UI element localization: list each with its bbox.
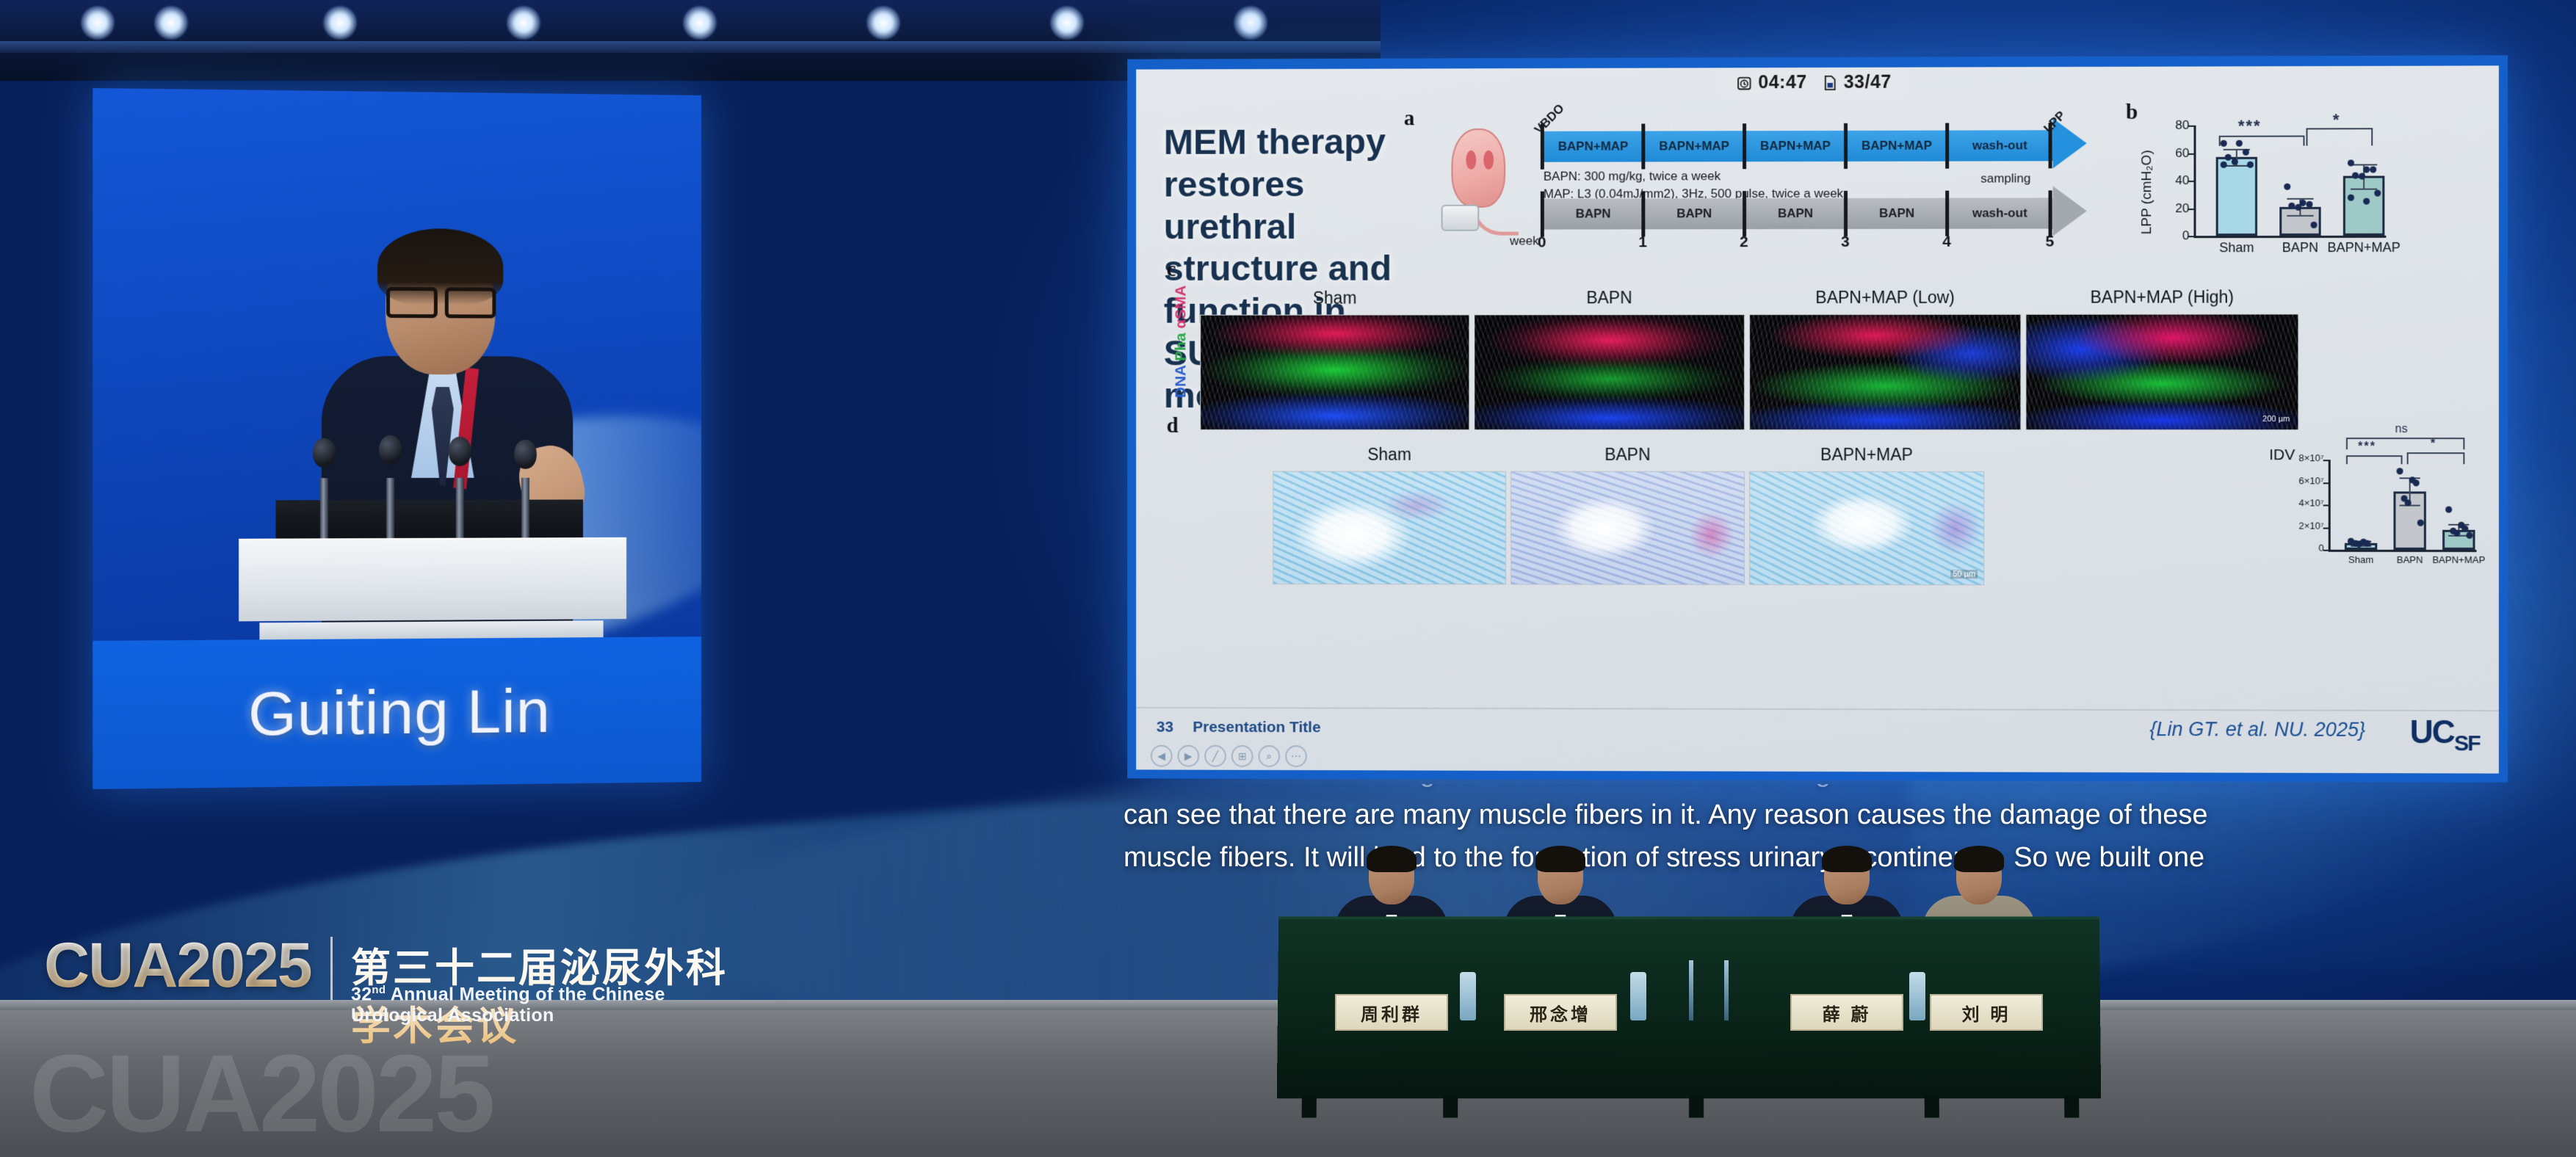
week-axis-label: week [1510,234,1538,249]
chart-y-tick-label: 20 [2138,201,2189,216]
timeline-tick [1945,191,1949,236]
channel-label-pha: Pha [1173,333,1190,361]
histology-image-sham [1273,471,1506,585]
stage-light-icon [866,6,900,40]
chart-errorbar-cap [2351,164,2377,165]
panelist-hair [1535,846,1585,872]
timeline-tick [1641,191,1645,236]
stage-light-icon [81,6,115,40]
timeline-segment: BAPN [1644,198,1744,229]
stage-light-icon [507,6,540,40]
timer-value: 04:47 [1758,72,1806,93]
chart-y-tick-label: 2×10⁷ [2272,520,2324,531]
microphone-icon [514,440,537,469]
significance-star: * [2333,110,2341,129]
timeline-tick [1743,123,1746,169]
channel-label-asma: αSMA [1173,285,1190,328]
chart-data-point [2246,161,2253,167]
ucsf-logo-main: UC [2410,714,2454,750]
chart-y-tick-label: 4×10⁷ [2272,497,2324,508]
chart-y-tick-label: 8×10⁷ [2272,452,2324,463]
microphone-stalk [320,478,328,545]
presentation-timer: 04:47 [1736,72,1806,93]
timeline-segment: BAPN+MAP [1847,131,1947,162]
water-bottle [1630,972,1646,1020]
chart-bars: ShamBAPNBAPN+MAP [2126,103,2436,104]
micrograph-column: BAPN+MAP (Low) [1749,283,2021,401]
chart-y-tick [2188,236,2195,237]
stage-light-icon [323,6,357,40]
panelist-nameplate: 邢念增 [1504,994,1617,1031]
table-leg [1443,1095,1458,1117]
water-bottle [1460,972,1476,1020]
footer-citation: {Lin GT. et al. NU. 2025} [2149,718,2365,741]
timeline-segment: BAPN [1544,198,1643,229]
chart-data-point [2370,166,2376,173]
timeline-tick [1945,123,1949,169]
micrograph-label: BAPN [1474,288,1745,308]
significance-star: *** [2238,117,2262,136]
chart-data-point [2232,159,2238,165]
conference-title-en-text: Annual Meeting of the Chinese Urological… [351,984,665,1026]
panelist-hair [1367,846,1417,872]
conference-ordinal: 32 [351,984,372,1004]
slide-counter: 33/47 [1823,72,1892,93]
microphone-stalk [456,478,464,545]
podium-front-panel [239,537,626,621]
scale-bar-label: 50 µm [1950,570,1978,578]
significance-bracket [2346,455,2403,464]
stage-light-icon [1050,6,1084,40]
speaker-name-banner: Guiting Lin [93,636,701,789]
chart-data-point [2295,203,2301,210]
chart-category-label: BAPN+MAP [2428,554,2489,565]
pump-device-icon [1441,205,1480,231]
panel-letter-a: a [1404,106,1414,131]
glasses-icon [386,287,496,313]
timeline-segment: BAPN+MAP [1644,131,1744,162]
conference-branding: CUA2025 第三十二届泌尿外科学术会议 32nd Annual Meetin… [44,924,734,1018]
timeline-tick [1844,123,1848,169]
significance-bracket [2407,452,2465,464]
zoom-button[interactable]: ⌕ [1258,745,1280,767]
chart-y-tick-label: 40 [2138,173,2189,188]
panel-d-idv-chart: IDV 02×10⁷4×10⁷6×10⁷8×10⁷ ShamBAPNBAPN+M… [2265,426,2487,570]
truss-bar [0,41,1381,53]
chart-ylabel: LPP (cmH₂O) [2139,150,2155,234]
slide-counter-value: 33/47 [1844,72,1892,93]
panelist-hair [1954,846,2004,872]
channel-label-dna: DNA [1173,366,1190,399]
table-leg [2064,1095,2079,1117]
chart-y-tick-label: 0 [2272,543,2324,554]
chart-data-point [2396,468,2403,475]
pen-tool-button[interactable]: ╱ [1204,745,1226,767]
week-tick: 0 [1538,234,1546,252]
chart-data-point [2348,194,2354,200]
chart-x-axis [2329,550,2477,552]
chart-y-tick-label: 0 [2138,228,2189,243]
chart-y-tick [2323,482,2330,484]
panel-b-lpp-chart: LPP (cmH₂O) 020406080 ShamBAPNBAPN+MAP *… [2126,103,2436,251]
micrograph-column: Sham [1200,284,1469,402]
cua-logo: CUA2025 [44,929,311,1002]
chart-data-point [2363,166,2370,173]
panel-d-histology: Sham BAPN BAPN+MAP 50 µm IDV 02×10⁷4×10⁷… [1165,410,2487,572]
next-slide-button[interactable]: ▶ [1178,745,1200,767]
significance-ns: ns [2395,423,2408,436]
week-tick: 5 [2046,233,2055,251]
chart-y-tick-label: 80 [2138,118,2189,133]
microphone-icon [313,438,336,468]
rat-eye [1466,150,1476,170]
table-leg [1925,1095,1939,1117]
stage-light-icon [1234,6,1267,40]
timeline-segment: BAPN [1847,198,1947,229]
chart-data-point [2221,161,2227,167]
timeline-segment: BAPN+MAP [1745,131,1845,162]
microphone-icon [449,437,471,466]
speaker-projection-screen: Guiting Lin [93,88,701,789]
presentation-slide: 04:47 33/47 MEM therapy restores urethra… [1136,65,2499,773]
chart-data-point [2310,222,2317,228]
histology-label: BAPN [1510,445,1745,465]
histology-label: Sham [1273,445,1506,465]
week-tick: 1 [1638,233,1647,251]
timeline-segment: BAPN+MAP [1544,131,1643,162]
rat-body [1451,128,1505,208]
footer-slide-number: 33 [1157,719,1173,736]
week-tick: 3 [1841,233,1850,251]
table-microphone-icon [1724,960,1729,1020]
previous-slide-button[interactable]: ◀ [1151,745,1173,767]
table-microphone-icon [1689,960,1693,1020]
significance-star: *** [2358,440,2376,454]
chart-y-tick [2323,550,2330,551]
panelist-hair [1822,846,1872,872]
stage-light-icon [683,6,717,40]
table-leg [1689,1095,1704,1117]
chart-y-tick [2188,126,2195,127]
chart-errorbar-cap [2351,189,2377,190]
ucsf-logo: UCSF [2410,714,2480,756]
alarm-clock-icon [1736,75,1752,91]
timeline-tick [1743,191,1746,236]
microphone-stalk [386,478,394,545]
conference-title-english: 32nd Annual Meeting of the Chinese Urolo… [351,984,734,1026]
water-bottle [1909,972,1925,1020]
conference-ordinal-suffix: nd [372,984,386,996]
chart-data-point [2374,189,2381,196]
sampling-label: sampling [1980,171,2030,186]
ucsf-logo-sub: SF [2454,731,2480,755]
timeline-tick [1641,124,1645,170]
rat-with-pump-icon [1439,128,1526,239]
panel-a-experimental-timeline: BAPN+MAP BAPN+MAP BAPN+MAP BAPN+MAP wash… [1424,104,2106,241]
speaker-name: Guiting Lin [248,675,551,750]
stage-light-icon [154,6,188,40]
slide-control-bar[interactable]: ◀ ▶ ╱ ⊞ ⌕ ⋯ [1151,745,1307,767]
chart-y-tick [2188,153,2195,154]
footer-presentation-title: Presentation Title [1193,719,1320,736]
chart-y-tick [2323,527,2330,529]
chart-y-tick [2188,181,2195,182]
chart-y-tick [2188,208,2195,210]
slide-hud: 04:47 33/47 [1720,68,1907,99]
panelist-nameplate: 薛 蔚 [1790,994,1903,1031]
microphone-stalk [521,478,529,545]
chart-data-point [2413,479,2420,486]
chart-y-tick-label: 6×10⁷ [2272,475,2324,486]
histology-image-bapn-map: 50 µm [1749,471,1984,585]
rat-eye [1483,150,1494,170]
slide-projection-screen: 04:47 33/47 MEM therapy restores urethra… [1127,55,2508,782]
chart-x-axis [2193,236,2386,238]
timeline-segment: BAPN [1745,198,1845,229]
slide-page-icon [1823,74,1838,90]
chart-errorbar-cap [2224,165,2250,167]
slide-footer: 33 Presentation Title {Lin GT. et al. NU… [1136,707,2499,774]
chart-y-tick-label: 60 [2138,145,2189,160]
micrograph-label: BAPN+MAP (High) [2025,287,2298,307]
significance-star: * [2431,438,2436,451]
histology-label: BAPN+MAP [1749,445,1984,465]
panel-c-channel-legend: DNA Pha αSMA [1173,285,1190,398]
significance-bracket [2307,128,2373,145]
chart-y-tick [2323,504,2330,506]
significance-bracket [2219,136,2305,146]
chart-data-point [2242,148,2248,155]
grid-view-button[interactable]: ⊞ [1231,745,1253,767]
week-tick: 4 [1942,233,1951,251]
branding-divider [330,937,333,1000]
timeline-tick [1844,191,1848,236]
timeline-segment: wash-out [1948,130,2051,161]
chart-y-tick [2323,460,2330,461]
timeline-tick [1541,192,1544,237]
timeline-segment: wash-out [1948,197,2051,228]
timeline-arrowhead [2053,186,2087,236]
chart-bar [2216,157,2257,236]
chart-errorbar-cap [2287,215,2313,217]
chart-y-ticks: 020406080 [2126,103,2436,104]
week-tick: 2 [1740,233,1748,251]
panelist-nameplate: 周利群 [1335,994,1448,1031]
chart-data-point [2445,507,2452,513]
more-options-button[interactable]: ⋯ [1285,745,1307,767]
chart-data-point [2284,183,2291,189]
micrograph-column: BAPN+MAP (High) 200 µm [2025,283,2298,401]
timeline-tick [2049,190,2052,236]
table-leg [1302,1095,1317,1117]
chart-data-point [2306,201,2312,208]
histology-image-bapn [1510,471,1745,585]
chart-data-point [2405,499,2412,506]
dose-bapn: BAPN: 300 mg/kg, twice a week [1544,169,1721,184]
micrograph-column: BAPN [1474,283,1745,401]
microphone-icon [379,435,402,465]
panelist-nameplate: 刘 明 [1930,994,2043,1031]
panel-c-immunofluorescence: DNA Pha αSMA Sham BAPN BAPN+MAP (Low) BA… [1165,252,2487,399]
micrograph-label: BAPN+MAP (Low) [1749,288,2021,308]
micrograph-label: Sham [1200,288,1469,308]
